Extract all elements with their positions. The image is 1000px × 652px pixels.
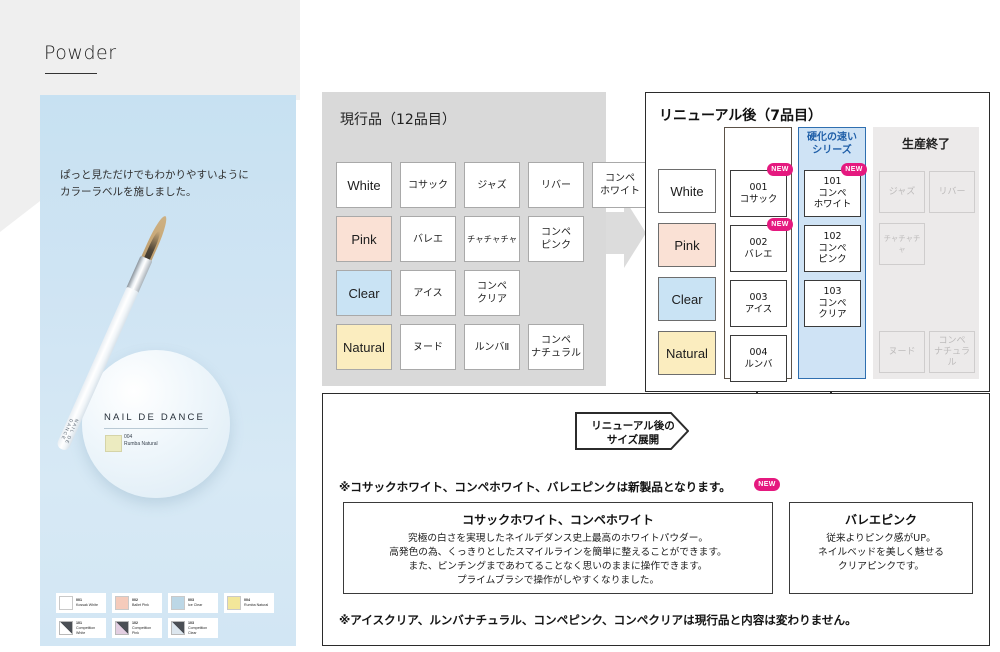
renewal-title: リニューアル後（7品目） <box>659 105 822 125</box>
standard-product-cell: 004ルンバ <box>730 335 787 382</box>
current-products-row: Whiteコサックジャズリバーコンペホワイト <box>336 162 648 208</box>
new-badge: NEW <box>841 163 867 176</box>
current-products-row: Pinkバレエチャチャチャコンペピンク <box>336 216 648 262</box>
jar-color-swatch <box>105 435 122 452</box>
current-category-cell: Clear <box>336 270 392 316</box>
color-chip: 001Kossak White <box>56 593 106 613</box>
jar-name-value: Rumba Natural <box>124 441 158 447</box>
current-products-panel: 現行品（12品目） WhiteコサックジャズリバーコンペホワイトPinkバレエチ… <box>322 92 606 386</box>
color-chip-label: 101CompetitionWhite <box>76 621 95 636</box>
discontinued-product-cell: ジャズ <box>879 171 925 213</box>
color-swatch-icon <box>115 596 129 610</box>
color-chip: 103CompetitionClear <box>168 618 218 638</box>
jar-color-code: 004 Rumba Natural <box>124 434 158 448</box>
new-badge: NEW <box>767 163 793 176</box>
color-chip-label: 003Ice Clear <box>188 598 202 608</box>
current-products-rows: WhiteコサックジャズリバーコンペホワイトPinkバレエチャチャチャコンペピン… <box>336 162 648 378</box>
current-category-cell: Natural <box>336 324 392 370</box>
jar-code-value: 004 <box>124 434 132 440</box>
discontinued-panel: 生産終了 ジャズリバーチャチャチャヌードコンペナチュラル <box>873 127 979 379</box>
color-chip: 003Ice Clear <box>168 593 218 613</box>
color-swatch-icon <box>59 621 73 635</box>
note-new-products: ※コサックホワイト、コンペホワイト、バレエピンクは新製品となります。 <box>339 479 731 495</box>
product-photo-stage: NAIL DE DANCE 004 Rumba Natural NAIL DE … <box>40 200 296 580</box>
renewal-category-cell: White <box>658 169 716 213</box>
fast-series-heading: 硬化の速いシリーズ <box>799 131 865 157</box>
note-box-ballet-pink: バレエピンク 従来よりピンク感がUP。ネイルベッドを美しく魅せるクリアピンクです… <box>789 502 973 594</box>
note-box-right-body: 従来よりピンク感がUP。ネイルベッドを美しく魅せるクリアピンクです。 <box>790 532 972 574</box>
current-product-cell: コサック <box>400 162 456 208</box>
current-products-row: NaturalヌードルンバⅡコンペナチュラル <box>336 324 648 370</box>
current-products-row: Clearアイスコンペクリア <box>336 270 648 316</box>
current-product-cell: コンペピンク <box>528 216 584 262</box>
current-product-cell: コンペホワイト <box>592 162 648 208</box>
note-box-cossack-white: コサックホワイト、コンペホワイト 究極の白さを実現したネイルデダンス史上最高のホ… <box>343 502 773 594</box>
discontinued-title: 生産終了 <box>873 135 979 152</box>
color-chip: 102CompetitionPink <box>112 618 162 638</box>
fast-product-cell: 101コンペホワイト <box>804 170 861 217</box>
color-swatch-icon <box>171 621 185 635</box>
page-root: Powder ぱっと見ただけでもわかりやすいようにカラーラベルを施しました。 N… <box>0 0 1000 652</box>
standard-product-cell: 002バレエ <box>730 225 787 272</box>
discontinued-product-cell: リバー <box>929 171 975 213</box>
color-chip-label: 004Rumba Natural <box>244 598 268 608</box>
fast-product-cell: 103コンペクリア <box>804 280 861 327</box>
renewal-category-column: WhitePinkClearNatural <box>658 169 716 385</box>
product-photo-panel: ぱっと見ただけでもわかりやすいようにカラーラベルを施しました。 NAIL DE … <box>40 95 296 646</box>
current-product-cell: リバー <box>528 162 584 208</box>
jar-brand-rule <box>104 428 208 429</box>
renewal-category-cell: Pink <box>658 223 716 267</box>
renewal-category-cell: Clear <box>658 277 716 321</box>
current-product-cell: ヌード <box>400 324 456 370</box>
current-category-cell: Pink <box>336 216 392 262</box>
discontinued-product-cell: コンペナチュラル <box>929 331 975 373</box>
renewal-category-cell: Natural <box>658 331 716 375</box>
fast-product-cell: 102コンペピンク <box>804 225 861 272</box>
color-chip: 101CompetitionWhite <box>56 618 106 638</box>
note-box-right-heading: バレエピンク <box>790 511 972 528</box>
current-product-cell: ルンバⅡ <box>464 324 520 370</box>
brush-handle-label: NAIL DE DANCE <box>57 410 82 451</box>
current-product-cell: コンペクリア <box>464 270 520 316</box>
note-new-badge: NEW <box>754 478 780 491</box>
note-box-left-body: 究極の白さを実現したネイルデダンス史上最高のホワイトパウダー。高発色の為、くっき… <box>344 532 772 588</box>
current-product-cell: ジャズ <box>464 162 520 208</box>
standard-series-column: 001コサックNEW002バレエNEW003アイス004ルンバ <box>724 127 792 379</box>
photo-caption: ぱっと見ただけでもわかりやすいようにカラーラベルを施しました。 <box>60 167 280 201</box>
note-unchanged-products: ※アイスクリア、ルンバナチュラル、コンペピンク、コンペクリアは現行品と内容は変わ… <box>339 612 857 628</box>
current-products-title: 現行品（12品目） <box>340 109 456 129</box>
powder-jar-image: NAIL DE DANCE 004 Rumba Natural <box>82 350 230 498</box>
jar-brand-label: NAIL DE DANCE <box>104 412 214 423</box>
discontinued-product-cell: チャチャチャ <box>879 223 925 265</box>
color-chip-label: 002Ballet Pink <box>132 598 149 608</box>
fast-series-column: 硬化の速いシリーズ 101コンペホワイトNEW102コンペピンク103コンペクリ… <box>798 127 866 379</box>
current-product-cell: バレエ <box>400 216 456 262</box>
page-title-rule <box>45 73 97 74</box>
color-swatch-icon <box>59 596 73 610</box>
standard-product-cell: 001コサック <box>730 170 787 217</box>
color-chip: 004Rumba Natural <box>224 593 274 613</box>
color-chip-label: 103CompetitionClear <box>188 621 207 636</box>
page-title: Powder <box>44 42 117 64</box>
color-chip-grid: 001Kossak White002Ballet Pink003Ice Clea… <box>56 593 282 638</box>
color-swatch-icon <box>227 596 241 610</box>
color-chip-label: 102CompetitionPink <box>132 621 151 636</box>
color-chip-label: 001Kossak White <box>76 598 98 608</box>
current-category-cell: White <box>336 162 392 208</box>
note-box-left-heading: コサックホワイト、コンペホワイト <box>344 511 772 528</box>
color-chip: 002Ballet Pink <box>112 593 162 613</box>
discontinued-product-cell: ヌード <box>879 331 925 373</box>
new-badge: NEW <box>767 218 793 231</box>
color-swatch-icon <box>115 621 129 635</box>
current-product-cell: チャチャチャ <box>464 216 520 262</box>
renewal-products-panel: リニューアル後（7品目） WhitePinkClearNatural 001コサ… <box>645 92 990 392</box>
current-product-cell: アイス <box>400 270 456 316</box>
current-product-cell: コンペナチュラル <box>528 324 584 370</box>
standard-product-cell: 003アイス <box>730 280 787 327</box>
color-swatch-icon <box>171 596 185 610</box>
size-expansion-label-text: リニューアル後のサイズ展開 <box>585 419 681 447</box>
